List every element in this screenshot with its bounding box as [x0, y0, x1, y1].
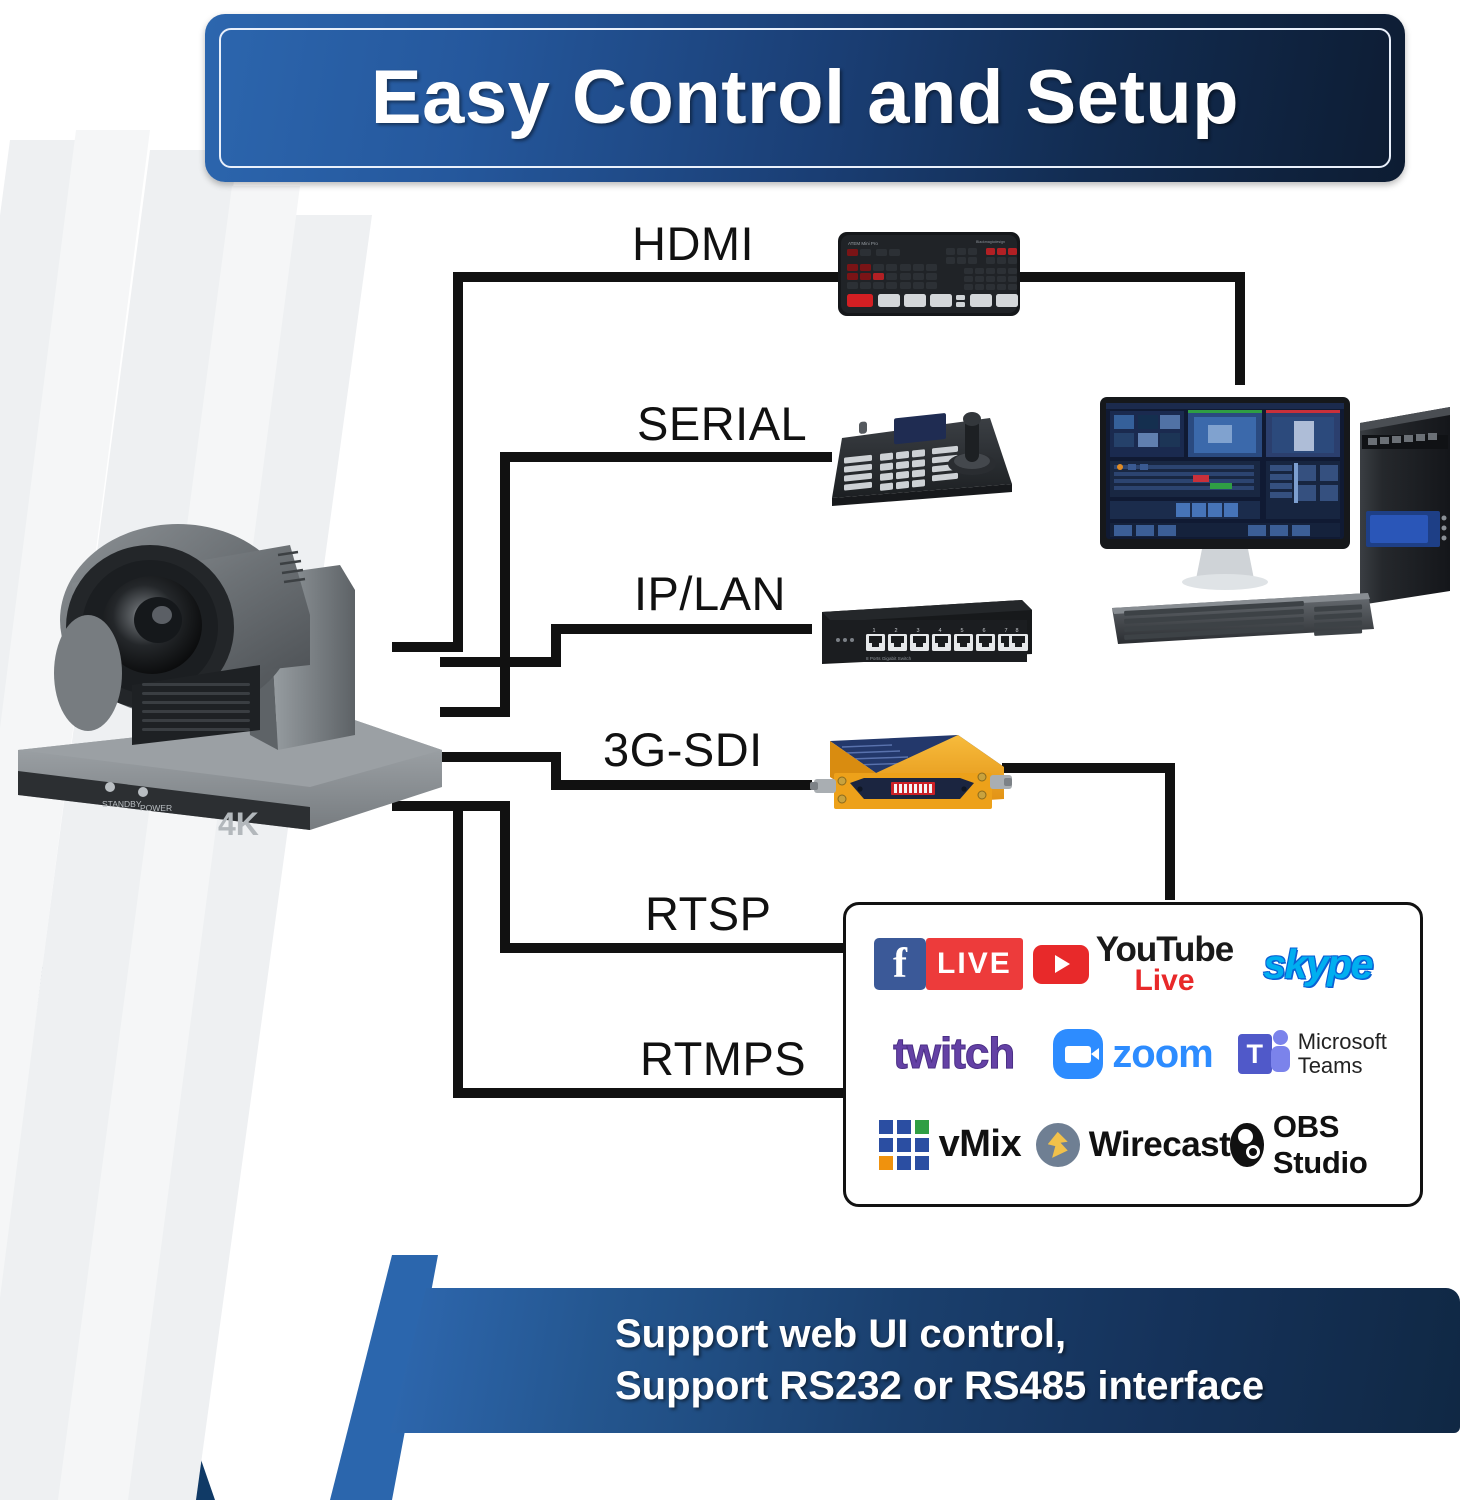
header-banner: Easy Control and Setup [205, 14, 1405, 182]
logo-obs-studio: OBS Studio [1230, 1100, 1402, 1190]
teams-label-microsoft: Microsoft [1298, 1030, 1387, 1055]
camera-4k-badge: 4K [218, 806, 259, 842]
pc-tower [1360, 407, 1450, 605]
footer-line-2: Support RS232 or RS485 interface [615, 1361, 1460, 1412]
logo-skype: skype [1233, 919, 1402, 1009]
facebook-live-badge: LIVE [926, 938, 1023, 990]
youtube-live-badge: Live [1096, 966, 1234, 996]
ptz-controller [822, 398, 1018, 508]
network-switch: 1 2 3 4 5 6 7 [810, 592, 1035, 677]
vmix-label: vMix [939, 1123, 1021, 1166]
protocol-label-serial: SERIAL [637, 396, 807, 451]
youtube-play-icon [1033, 945, 1089, 984]
logo-wirecast: Wirecast [1036, 1100, 1231, 1190]
obs-label: OBS Studio [1273, 1109, 1402, 1181]
obs-icon [1230, 1123, 1264, 1167]
svg-text:4: 4 [938, 628, 941, 634]
svg-text:ATEM Mini Pro: ATEM Mini Pro [848, 241, 878, 246]
wire-iplan [440, 629, 812, 662]
svg-text:Blackmagicdesign: Blackmagicdesign [976, 240, 1005, 244]
monitor [1100, 397, 1350, 590]
streaming-platforms-panel: f LIVE YouTube Live skype twitch zoom T [843, 902, 1423, 1207]
teams-icon: T [1238, 1030, 1290, 1078]
skype-label: skype [1263, 941, 1372, 988]
network-switch-caption: 8 Ports Gigabit Switch [866, 656, 912, 661]
ptz-camera: STANDBY POWER 4K [10, 415, 450, 855]
svg-text:1: 1 [872, 628, 875, 634]
logo-twitch: twitch [864, 1009, 1043, 1099]
protocol-label-hdmi: HDMI [632, 216, 754, 271]
facebook-icon: f [874, 938, 926, 990]
svg-text:5: 5 [960, 628, 963, 634]
youtube-label: YouTube [1096, 933, 1234, 966]
workstation [1098, 383, 1458, 663]
logo-facebook-live: f LIVE [864, 919, 1033, 1009]
wirecast-label: Wirecast [1089, 1125, 1231, 1165]
protocol-label-rtsp: RTSP [645, 886, 772, 941]
streaming-row-2: twitch zoom T Microsoft Teams [864, 1009, 1402, 1099]
keyboard [1112, 593, 1374, 644]
zoom-label: zoom [1112, 1032, 1212, 1077]
zoom-camera-icon [1053, 1029, 1103, 1079]
svg-text:7: 7 [1004, 628, 1007, 634]
protocol-label-rtmps: RTMPS [640, 1031, 806, 1086]
svg-text:8: 8 [1015, 628, 1018, 634]
svg-text:6: 6 [982, 628, 985, 634]
video-switcher: ATEM Mini Pro Blackmagicdesign [836, 226, 1022, 326]
camera-led-standby-label: STANDBY [102, 799, 142, 809]
sdi-converter [808, 727, 1013, 837]
vmix-grid-icon [879, 1120, 929, 1170]
logo-vmix: vMix [864, 1100, 1036, 1190]
teams-label-teams: Teams [1298, 1054, 1387, 1079]
twitch-label: twitch [893, 1029, 1014, 1079]
page-title: Easy Control and Setup [371, 60, 1239, 136]
logo-youtube-live: YouTube Live [1033, 919, 1234, 1009]
streaming-row-3: vMix Wirecast OBS Studio [864, 1100, 1402, 1190]
header-banner-inner-border: Easy Control and Setup [219, 28, 1391, 168]
logo-zoom: zoom [1043, 1009, 1222, 1099]
footer-line-1: Support web UI control, [615, 1309, 1460, 1360]
protocol-label-3gsdi: 3G-SDI [603, 722, 763, 777]
wire-hdmi-to-monitor [1018, 277, 1240, 385]
wire-sdi-to-streaming [1002, 768, 1170, 900]
logo-microsoft-teams: T Microsoft Teams [1223, 1009, 1402, 1099]
wirecast-icon [1036, 1123, 1080, 1167]
svg-text:3: 3 [916, 628, 919, 634]
streaming-row-1: f LIVE YouTube Live skype [864, 919, 1402, 1009]
svg-text:2: 2 [894, 628, 897, 634]
camera-led-power-label: POWER [140, 803, 172, 813]
protocol-label-iplan: IP/LAN [634, 566, 786, 621]
footer-banner: Support web UI control, Support RS232 or… [390, 1288, 1460, 1433]
